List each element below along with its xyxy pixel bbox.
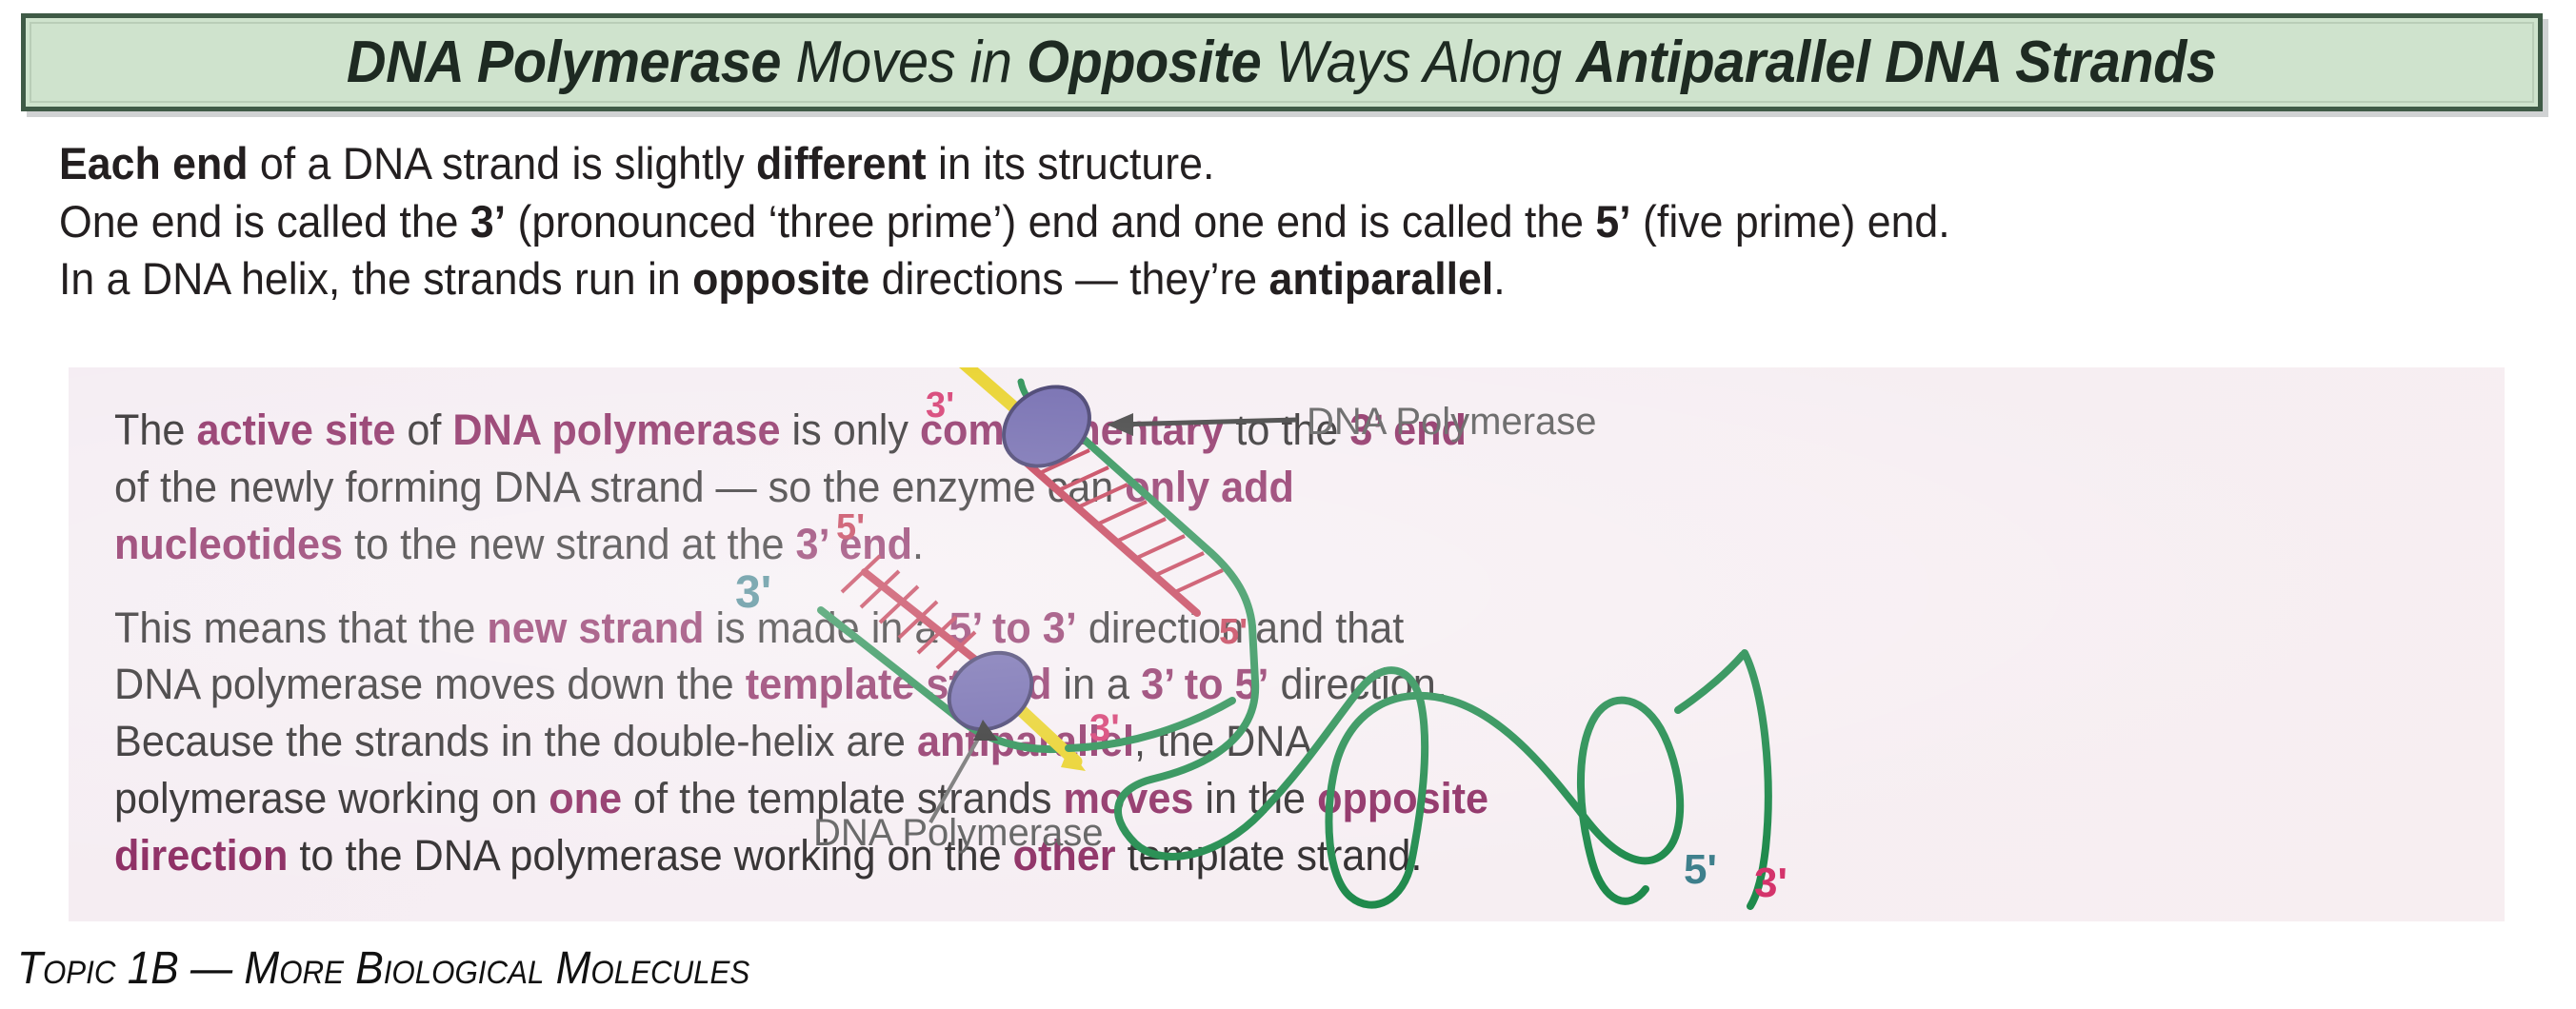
helix-strand-a [1118,670,1680,905]
intro-text: . [1493,253,1505,304]
lower-callout-leader [930,727,985,822]
lower-base-pair-rungs [842,556,975,668]
helix-strand-b-link [1678,655,1743,710]
label-helix-3prime: 3' [1754,860,1787,906]
title-segment-2: Opposite [1027,30,1261,95]
title-segment-0: DNA Polymerase [347,30,781,95]
callout-dna-polymerase-upper: DNA Polymerase [1307,401,1597,443]
intro-line-3: In a DNA helix, the strands run in oppos… [59,250,2375,308]
title-segment-4: Antiparallel DNA Strands [1576,30,2216,95]
supercoiled-dna-helix [1068,653,1768,906]
label-helix-5prime: 5' [1684,846,1717,893]
intro-bold-different: different [756,138,927,188]
label-lower-template-5prime: 5' [836,507,865,547]
upper-callout-leader [1116,420,1297,425]
title-segment-1: Moves in [781,30,1027,95]
intro-text: in its structure. [927,138,1215,188]
section-title-banner: DNA Polymerase Moves in Opposite Ways Al… [21,13,2543,111]
title-segment-3: Ways Along [1262,30,1577,95]
page-title: DNA Polymerase Moves in Opposite Ways Al… [347,33,2217,92]
label-upper-3prime: 3' [926,386,954,425]
intro-line-1: Each end of a DNA strand is slightly dif… [59,135,2375,193]
intro-text: In a DNA helix, the strands run in [59,253,692,304]
page-footer: Topic 1B — More Biological Molecules [17,942,749,995]
label-lower-3prime-left: 3' [735,567,771,618]
diagram-svg: 5' 3' 5' 5' 3' 3' 5' 3' DNA Polymerase D… [69,367,2505,921]
label-upper-new-5prime: 5' [1048,367,1081,375]
intro-text: (pronounced ‘three prime’) end and one e… [506,196,1595,247]
label-lower-new-3prime: 3' [1089,707,1120,749]
upper-movement-arrow-icon [952,367,1021,413]
dna-polymerase-enzyme-upper [988,370,1105,482]
lower-fork-group [821,556,1086,822]
intro-text: of a DNA strand is slightly [249,138,757,188]
callout-dna-polymerase-lower: DNA Polymerase [813,812,1104,854]
upper-base-pair-rungs [1042,450,1223,592]
intro-text: (five prime) end. [1631,196,1950,247]
upper-template-red-strand [1021,458,1197,613]
intro-bold-opposite: opposite [692,253,869,304]
intro-text: directions — they’re [869,253,1268,304]
highlight-box: The active site of DNA polymerase is onl… [69,367,2505,921]
intro-paragraph: Each end of a DNA strand is slightly dif… [59,135,2375,308]
intro-line-2: One end is called the 3’ (pronounced ‘th… [59,193,2375,251]
label-upper-template-5prime: 5' [1219,612,1248,652]
lower-movement-arrow-icon [1021,710,1086,771]
intro-bold-antiparallel: antiparallel [1269,253,1494,304]
intro-bold-3prime: 3’ [470,196,506,247]
intro-bold-each-end: Each end [59,138,249,188]
dna-replication-diagram: 5' 3' 5' 5' 3' 3' 5' 3' DNA Polymerase D… [69,367,964,921]
intro-bold-5prime: 5’ [1595,196,1630,247]
intro-text: One end is called the [59,196,470,247]
upper-callout-arrowhead-icon [1107,413,1133,436]
